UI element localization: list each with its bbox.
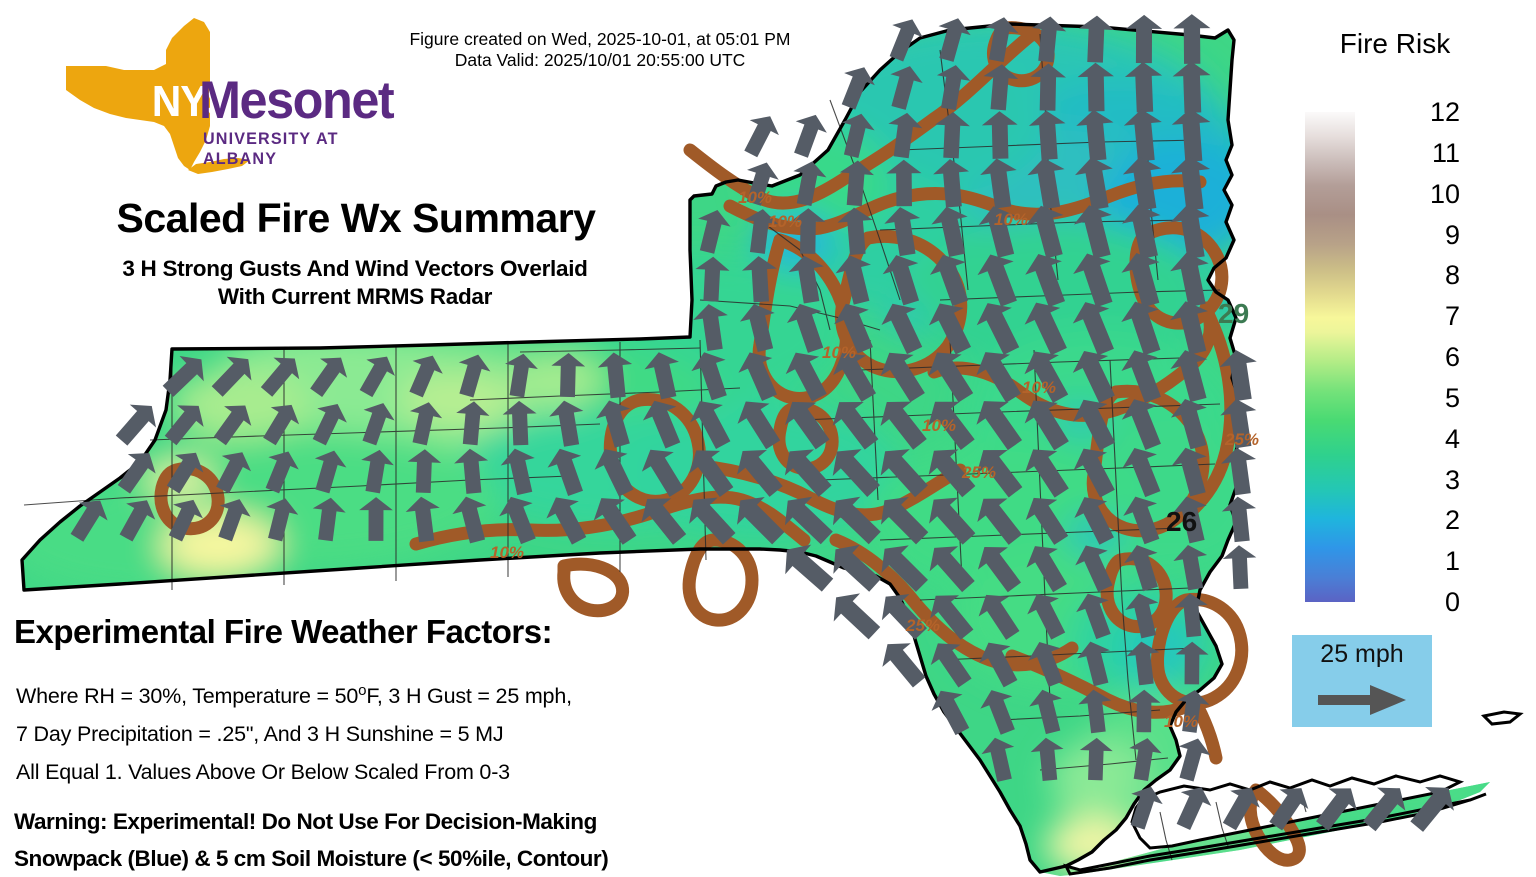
contour-label: 10% [738, 188, 772, 208]
contour-label: 25% [1225, 430, 1259, 450]
contour-label: 10% [768, 212, 802, 232]
gust-value-label: 29 [1218, 298, 1249, 330]
contour-label: 10% [1164, 712, 1198, 732]
contour-label: 10% [822, 343, 856, 363]
gust-value-label: 26 [1166, 506, 1197, 538]
contour-label: 10% [1022, 378, 1056, 398]
contour-label: 10% [994, 210, 1028, 230]
map-label-layer: 10%10%10%10%10%10%25%25%10%25%10%2629 [0, 0, 1536, 876]
contour-label: 10% [922, 416, 956, 436]
contour-label: 25% [962, 463, 996, 483]
contour-label: 25% [906, 616, 940, 636]
contour-label: 10% [490, 543, 524, 563]
